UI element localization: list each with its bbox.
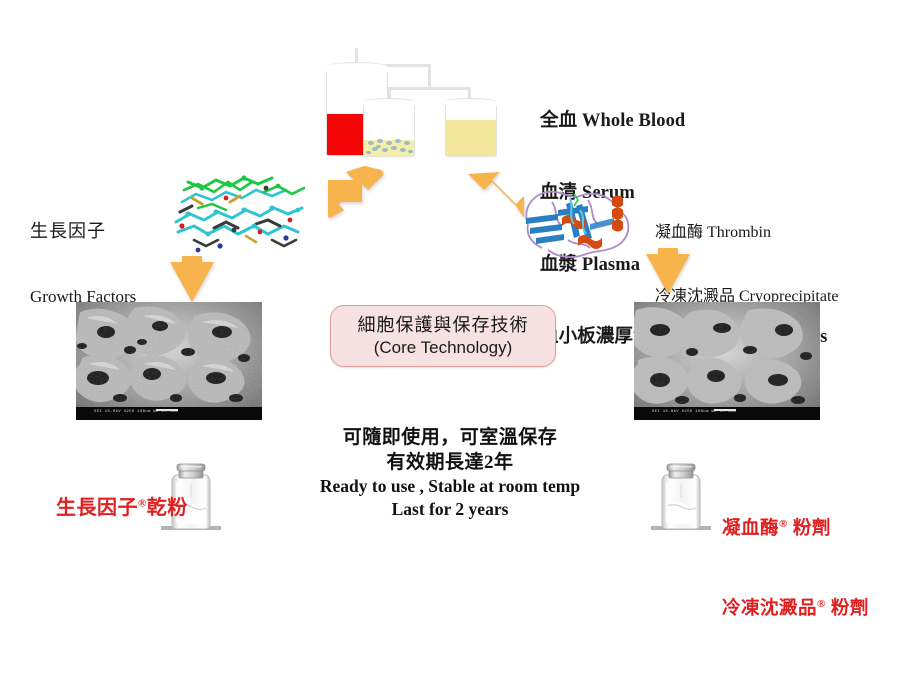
- arrow-to-growth-factors: [326, 166, 388, 222]
- product-right-line1: 凝血酶® 粉劑: [722, 516, 869, 543]
- product-left-suffix: 乾粉: [147, 497, 188, 519]
- product-name-right: 凝血酶® 粉劑 冷凍沈澱品® 粉劑: [722, 462, 869, 677]
- thrombin-ribbon-model: [518, 180, 636, 271]
- platelet-concentrate-bag: [363, 101, 415, 157]
- plasma-bag-shoulder: [445, 98, 497, 106]
- sem-info-bar: SEI 15.0kV X250 100um WD 10.5mm: [634, 407, 820, 420]
- tube-down-to-branch: [428, 64, 431, 89]
- arrow-down-left-icon: [326, 166, 388, 222]
- arrow-down-icon: [644, 248, 692, 296]
- claim-line-2: 有效期長達2年: [300, 451, 600, 476]
- claim-line-4: Last for 2 years: [300, 498, 600, 521]
- sem-meta-text: SEI 15.0kV X250 100um WD 10.5mm: [94, 410, 178, 414]
- product-right-line1-post: 粉劑: [788, 519, 831, 539]
- plasma-fill: [446, 120, 496, 156]
- claim-line-1: 可隨即使用，可室溫保存: [300, 426, 600, 451]
- platelet-dot: [377, 139, 383, 143]
- thrombin-powder-vial: [650, 460, 712, 546]
- platelet-dot: [366, 151, 371, 155]
- arrow-down-icon: [168, 256, 216, 304]
- platelet-dot: [368, 141, 374, 145]
- platelet-dot: [408, 150, 413, 154]
- core-technology-box: 細胞保護與保存技術 (Core Technology): [330, 305, 556, 367]
- plasma-bag: [445, 101, 497, 157]
- claim-line-3: Ready to use , Stable at room temp: [300, 475, 600, 498]
- platelet-dot: [376, 145, 381, 149]
- product-claim-text: 可隨即使用，可室溫保存 有效期長達2年 Ready to use , Stabl…: [300, 426, 600, 522]
- registered-mark-icon: ®: [779, 517, 788, 529]
- arrow-growth-factors-to-scaffold: [168, 256, 216, 304]
- core-technology-cn: 細胞保護與保存技術: [358, 314, 529, 337]
- platelet-bag-shoulder: [363, 98, 415, 106]
- growth-factor-molecule-model: [168, 168, 310, 265]
- product-right-line2-pre: 冷凍沈澱品: [722, 599, 817, 619]
- product-right-line2: 冷凍沈澱品® 粉劑: [722, 596, 869, 623]
- sem-micrograph-growth-factor-scaffold: SEI 15.0kV X250 100um WD 10.5mm: [76, 302, 262, 420]
- arrow-down-right-icon: [464, 166, 526, 222]
- sem-meta-text: SEI 15.0kV X250 100um WD 10.5mm: [652, 410, 736, 414]
- product-name-left: 生長因子®乾粉: [34, 470, 188, 547]
- arrow-to-thrombin: [464, 166, 526, 222]
- core-technology-en: (Core Technology): [374, 337, 513, 358]
- growth-factor-label-cn: 生長因子: [30, 220, 136, 243]
- blood-bag-assembly: [318, 48, 508, 158]
- product-right-line2-post: 粉劑: [826, 599, 869, 619]
- platelet-dot: [400, 148, 406, 152]
- platelet-dot: [395, 139, 401, 143]
- blood-product-line: 全血 Whole Blood: [540, 109, 827, 134]
- thrombin-label-line1: 凝血酶 Thrombin: [655, 221, 839, 244]
- registered-mark-icon: ®: [817, 598, 826, 610]
- whole-blood-bag-shoulder: [326, 62, 388, 72]
- platelet-dot: [404, 141, 410, 145]
- registered-mark-icon: ®: [138, 497, 147, 509]
- slide-canvas: 全血 Whole Blood 血清 Serum 血漿 Plasma 血小板濃厚液…: [0, 0, 912, 570]
- sem-info-bar: SEI 15.0kV X250 100um WD 10.5mm: [76, 407, 262, 420]
- sem-texture: [76, 302, 262, 420]
- platelet-dot: [382, 148, 388, 152]
- platelet-dot: [386, 141, 392, 145]
- sem-micrograph-thrombin-scaffold: SEI 15.0kV X250 100um WD 10.5mm: [634, 302, 820, 420]
- sem-texture: [634, 302, 820, 420]
- product-left-cn: 生長因子: [56, 497, 138, 519]
- arrow-thrombin-to-scaffold: [644, 248, 692, 296]
- tube-horizontal-branch: [388, 87, 471, 90]
- product-right-line1-pre: 凝血酶: [722, 519, 779, 539]
- platelet-dot: [391, 146, 397, 150]
